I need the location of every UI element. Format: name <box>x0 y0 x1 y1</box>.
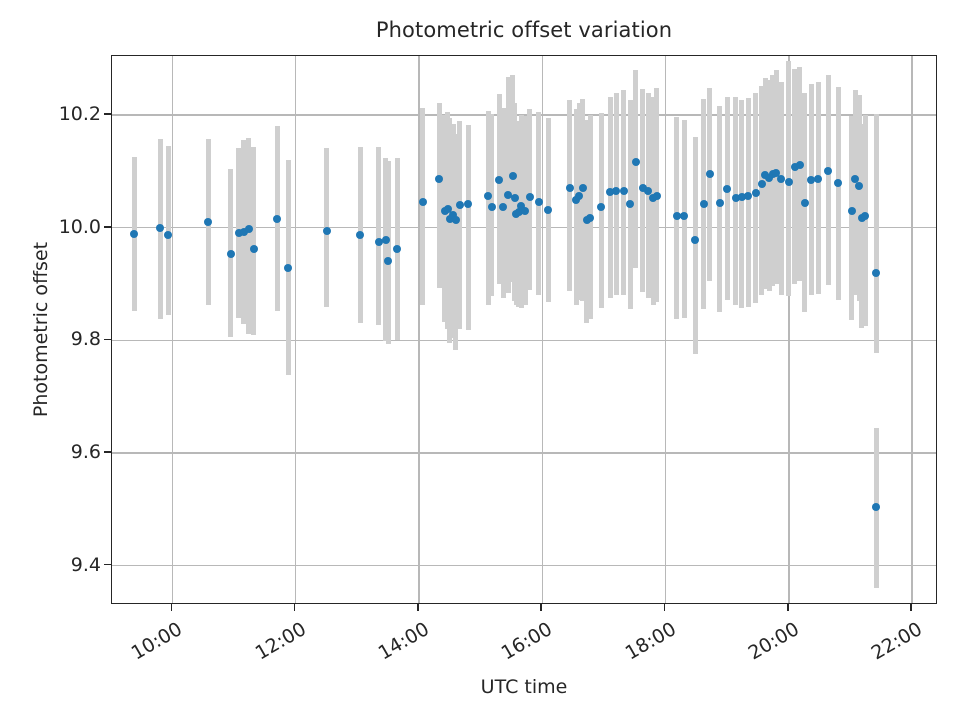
y-tick-label: 9.8 <box>71 328 101 350</box>
error-bar <box>251 147 256 335</box>
error-bar <box>567 100 572 290</box>
y-tick-mark <box>104 226 111 228</box>
data-point <box>323 227 331 235</box>
data-point <box>586 214 594 222</box>
data-point <box>834 179 842 187</box>
data-point <box>848 207 856 215</box>
data-point <box>680 212 688 220</box>
data-point <box>723 185 731 193</box>
y-tick-mark <box>104 113 111 115</box>
data-point <box>495 176 503 184</box>
y-tick-mark <box>104 564 111 566</box>
data-point <box>814 175 822 183</box>
error-bar <box>717 106 722 312</box>
data-point <box>691 236 699 244</box>
y-tick-mark <box>104 339 111 341</box>
y-tick-label: 10.2 <box>59 103 101 125</box>
data-point <box>384 257 392 265</box>
data-point <box>227 250 235 258</box>
x-gridline <box>542 56 543 603</box>
x-tick-label: 10:00 <box>122 618 187 668</box>
error-bar <box>836 87 841 300</box>
error-bar <box>466 125 471 331</box>
data-point <box>544 206 552 214</box>
error-bar <box>376 147 381 325</box>
x-gridline <box>665 56 666 603</box>
error-bar <box>874 114 879 353</box>
y-tick-label: 9.4 <box>71 554 101 576</box>
data-point <box>419 198 427 206</box>
x-tick-label: 22:00 <box>861 618 926 668</box>
data-point <box>700 200 708 208</box>
data-point <box>356 231 364 239</box>
data-point <box>575 192 583 200</box>
data-point <box>521 207 529 215</box>
data-point <box>204 218 212 226</box>
error-bar <box>633 70 638 268</box>
data-point <box>632 158 640 166</box>
data-point <box>706 170 714 178</box>
data-point <box>511 194 519 202</box>
data-point <box>535 198 543 206</box>
error-bar <box>725 97 730 300</box>
data-point <box>872 503 880 511</box>
x-axis-label: UTC time <box>111 676 937 698</box>
error-bar <box>746 98 751 306</box>
data-point <box>597 203 605 211</box>
data-point <box>752 189 760 197</box>
y-gridline <box>112 565 936 566</box>
y-gridline <box>112 452 936 453</box>
data-point <box>526 193 534 201</box>
data-point <box>716 199 724 207</box>
x-tick-label: 20:00 <box>738 618 803 668</box>
error-bar <box>739 100 744 307</box>
y-tick-label: 9.6 <box>71 441 101 463</box>
data-point <box>653 192 661 200</box>
x-tick-label: 12:00 <box>245 618 310 668</box>
x-tick-label: 18:00 <box>615 618 680 668</box>
data-point <box>509 172 517 180</box>
data-point <box>382 236 390 244</box>
error-bar <box>816 82 821 294</box>
y-gridline <box>112 340 936 341</box>
data-point <box>393 245 401 253</box>
x-tick-label: 16:00 <box>492 618 557 668</box>
data-point <box>824 167 832 175</box>
error-bar <box>437 103 442 288</box>
x-gridline <box>911 56 912 603</box>
data-point <box>156 224 164 232</box>
data-point <box>785 178 793 186</box>
data-point <box>130 230 138 238</box>
data-point <box>284 264 292 272</box>
data-point <box>872 269 880 277</box>
data-point <box>250 245 258 253</box>
y-axis-tick-labels: 9.49.69.810.010.2 <box>0 55 101 604</box>
x-tick-label: 14:00 <box>368 618 433 668</box>
y-tick-label: 10.0 <box>59 216 101 238</box>
error-bar <box>779 82 784 295</box>
x-gridline <box>295 56 296 603</box>
error-bar <box>826 75 831 286</box>
x-gridline <box>172 56 173 603</box>
data-point <box>488 203 496 211</box>
data-point <box>861 212 869 220</box>
figure-canvas: Photometric offset variation Photometric… <box>0 0 960 720</box>
data-point <box>273 215 281 223</box>
plot-area <box>111 55 937 604</box>
data-point <box>744 192 752 200</box>
y-tick-mark <box>104 451 111 453</box>
error-bar <box>809 84 814 296</box>
error-bar <box>608 97 613 297</box>
data-point <box>456 201 464 209</box>
data-point <box>464 200 472 208</box>
error-bar <box>693 137 698 354</box>
error-bar <box>707 88 712 281</box>
data-point <box>801 199 809 207</box>
x-axis-tick-labels: 10:0012:0014:0016:0018:0020:0022:00 <box>111 604 937 674</box>
error-bar <box>457 121 462 329</box>
error-bar <box>386 161 391 344</box>
chart-title: Photometric offset variation <box>111 18 937 42</box>
error-bar <box>420 108 425 305</box>
data-point <box>796 161 804 169</box>
error-bar <box>753 93 758 304</box>
data-point <box>620 187 628 195</box>
